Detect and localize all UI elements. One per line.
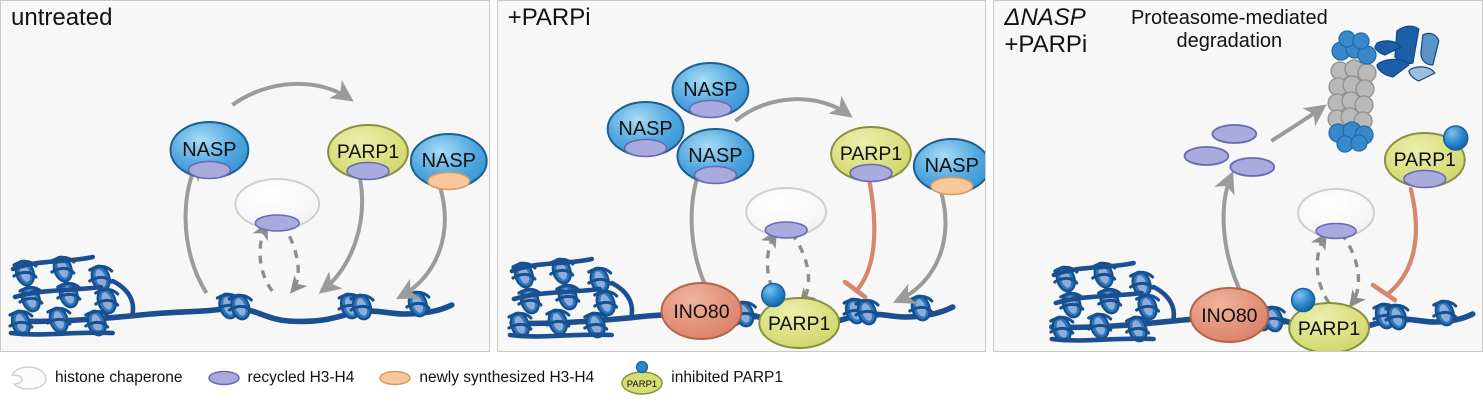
node-label: PARP1 <box>768 313 830 335</box>
node-label: INO80 <box>673 301 729 323</box>
node-parp1-free: PARP1 <box>831 127 911 182</box>
nucleosome-cluster <box>1050 260 1174 343</box>
histone-chaperone <box>1299 189 1375 239</box>
panel-dnasp-parpi: ΔNASP+PARPi Proteasome-mediated degradat… <box>993 0 1483 352</box>
node-nasp-new: NASP <box>914 139 986 195</box>
free-h3h4-dimer <box>1213 125 1257 143</box>
node-parp1-free: PARP1 <box>1385 126 1468 188</box>
panel-title-italic: ΔNASP <box>1004 4 1085 31</box>
arrow-chromatin-to-nasp <box>186 161 207 293</box>
arrow-naspnew-to-chromatin <box>400 186 445 297</box>
node-label: PARP1 <box>337 141 399 163</box>
free-h3h4-dimer <box>1185 147 1229 165</box>
legend-label: recycled H3-H4 <box>248 369 355 387</box>
node-parp1: PARP1 <box>328 125 408 180</box>
node-ino80: INO80 <box>1191 288 1269 342</box>
panel-parpi-graphic: INO80 PARP1 NASP NASP <box>498 1 986 351</box>
inhibition-arrow <box>845 179 874 297</box>
inhibited-parp1-icon: PARP1 <box>618 360 664 396</box>
dashed-arrow-in <box>1318 235 1330 303</box>
node-parp1-chromatin: PARP1 <box>1290 289 1370 352</box>
node-label: PARP1 <box>839 143 901 165</box>
arrow-naspnew-to-chromatin <box>897 191 946 301</box>
legend-item-inhibited-parp1: PARP1 inhibited PARP1 <box>618 360 783 396</box>
arrow-nasp-to-parp1 <box>735 99 849 121</box>
nucleosome-cluster <box>508 256 632 339</box>
legend-label: histone chaperone <box>55 369 183 387</box>
node-nasp-recycled: NASP <box>171 122 249 179</box>
legend-label: inhibited PARP1 <box>671 369 783 387</box>
node-nasp-new: NASP <box>411 134 487 190</box>
node-label: NASP <box>618 118 672 140</box>
arrow-chromatin-to-h3h4 <box>1224 175 1246 301</box>
legend-label: newly synthesized H3-H4 <box>419 369 594 387</box>
nucleosome-on-fiber <box>216 289 429 321</box>
proteasome-headline: Proteasome-mediated degradation <box>1114 7 1344 53</box>
dashed-arrow-in <box>260 225 272 291</box>
legend: histone chaperone recycled H3-H4 newly s… <box>0 352 1483 404</box>
legend-item-recycled-h3h4: recycled H3-H4 <box>207 369 355 387</box>
arrow-nasp-to-parp1 <box>232 84 350 105</box>
node-parp1-chromatin: PARP1 <box>759 284 839 349</box>
legend-item-histone-chaperone: histone chaperone <box>8 365 183 391</box>
panel-row: untreated <box>0 0 1483 352</box>
node-label: PARP1 <box>1394 149 1456 171</box>
dashed-arrow-out <box>1341 233 1358 305</box>
histone-chaperone <box>235 179 319 231</box>
node-nasp-2: NASP <box>672 63 748 118</box>
inhibited-parp1-badge-label: PARP1 <box>627 379 657 390</box>
panel-untreated-graphic: NASP PARP1 NASP <box>1 1 489 351</box>
histone-chaperone <box>746 188 826 238</box>
panel-untreated: untreated <box>0 0 490 352</box>
dashed-arrow-out <box>791 233 808 303</box>
node-label: NASP <box>422 150 476 172</box>
node-ino80: INO80 <box>661 283 741 339</box>
histone-chaperone-icon <box>8 365 48 391</box>
node-label: NASP <box>683 79 737 101</box>
node-label: PARP1 <box>1298 318 1360 340</box>
node-label: INO80 <box>1202 305 1258 327</box>
panel-parpi: +PARPi <box>497 0 987 352</box>
new-h3h4-icon <box>378 369 412 387</box>
arrow-parp1-to-chromatin <box>322 179 362 291</box>
inhibitor-ball-icon <box>1444 126 1468 150</box>
panel-title-dnasp-parpi: ΔNASP+PARPi <box>1004 5 1087 59</box>
panel-title-plain: +PARPi <box>1004 31 1087 58</box>
free-h3h4-group <box>1185 125 1275 176</box>
node-label: NASP <box>924 155 978 177</box>
panel-title-untreated: untreated <box>11 5 112 32</box>
inhibition-arrow <box>1373 189 1416 300</box>
node-label: NASP <box>688 145 742 167</box>
nucleosome-cluster <box>9 254 133 337</box>
panel-title-parpi: +PARPi <box>508 5 591 32</box>
figure-root: untreated <box>0 0 1483 404</box>
inhibitor-ball-icon <box>761 284 784 307</box>
recycled-h3h4-icon <box>207 369 241 387</box>
inhibitor-ball-icon <box>1292 289 1315 312</box>
dashed-arrow-out <box>282 223 298 291</box>
protein-fragments <box>1375 26 1439 81</box>
legend-item-new-h3h4: newly synthesized H3-H4 <box>378 369 594 387</box>
free-h3h4-dimer <box>1231 158 1275 176</box>
node-label: NASP <box>182 139 236 161</box>
node-nasp-3: NASP <box>677 129 753 184</box>
inhibitor-ball-icon <box>637 362 648 373</box>
arrow-h3h4-to-proteasome <box>1272 107 1324 141</box>
node-nasp-1: NASP <box>607 102 683 157</box>
